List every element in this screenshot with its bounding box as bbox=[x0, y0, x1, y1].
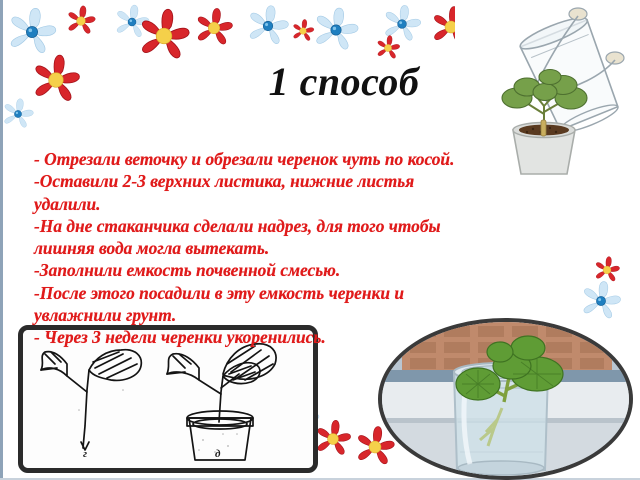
red-flower-icon bbox=[64, 4, 98, 38]
red-flower-icon bbox=[134, 6, 194, 66]
red-flower-icon bbox=[192, 6, 236, 50]
step-line: -После этого посадили в эту емкость чере… bbox=[34, 282, 594, 304]
slide-canvas: 1 способ bbox=[0, 0, 640, 480]
step-line: -На дне стаканчика сделали надрез, для т… bbox=[34, 215, 594, 237]
blue-flower-icon bbox=[310, 4, 362, 56]
step-line: - Отрезали веточку и обрезали черенок чу… bbox=[34, 148, 594, 170]
step-line: удалили. bbox=[34, 193, 594, 215]
rooting-photo bbox=[378, 318, 633, 480]
figure-label-left: г bbox=[83, 448, 87, 460]
figure-label-right: д bbox=[215, 448, 220, 460]
step-line: -Заполнили емкость почвенной смесью. bbox=[34, 259, 594, 281]
step-line: лишняя вода могла вытекать. bbox=[34, 237, 594, 259]
red-flower-icon bbox=[374, 34, 402, 62]
blue-flower-icon bbox=[244, 2, 292, 50]
red-flower-icon bbox=[312, 418, 354, 460]
step-line: -Оставили 2-3 верхних листика, нижние ли… bbox=[34, 170, 594, 192]
